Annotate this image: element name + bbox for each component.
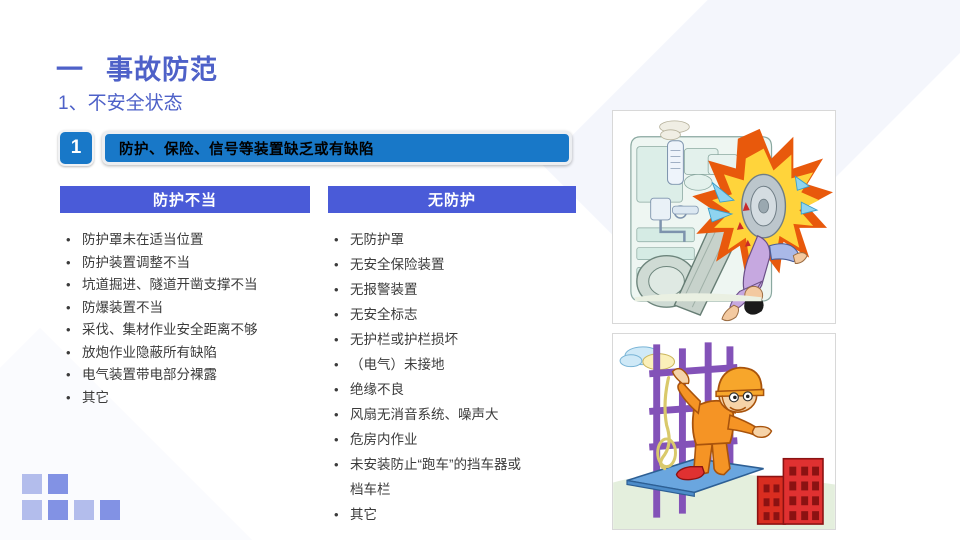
list-item: •无防护罩 — [334, 227, 576, 252]
list-item: •其它 — [66, 387, 310, 410]
column-improper-protection: 防护不当 •防护罩未在适当位置 •防护装置调整不当 •坑道掘进、隧道开凿支撑不当… — [60, 186, 310, 527]
column-header: 无防护 — [328, 186, 576, 213]
list-item: •其它 — [334, 502, 576, 527]
list-item-label: 其它 — [82, 387, 310, 410]
bullet-icon: • — [66, 252, 82, 275]
section-banner-label: 防护、保险、信号等装置缺乏或有缺陷 — [102, 131, 572, 165]
list-item-label: 电气装置带电部分裸露 — [82, 364, 310, 387]
list-item: •无报警装置 — [334, 277, 576, 302]
list-item-label: 无报警装置 — [350, 277, 576, 302]
list-item-label: 采伐、集材作业安全距离不够 — [82, 319, 310, 342]
page-subtitle: 1、不安全状态 — [58, 88, 183, 115]
bullet-icon: • — [66, 319, 82, 342]
list-item: •绝缘不良 — [334, 377, 576, 402]
section-number-badge: 1 — [58, 130, 94, 166]
list-item: •风扇无消音系统、噪声大 — [334, 402, 576, 427]
column-header: 防护不当 — [60, 186, 310, 213]
list-item-label: 防护装置调整不当 — [82, 252, 310, 275]
list-item-label: 其它 — [350, 502, 576, 527]
bullet-icon: • — [66, 342, 82, 365]
list-item: •危房内作业 — [334, 427, 576, 452]
column-item-list: •防护罩未在适当位置 •防护装置调整不当 •坑道掘进、隧道开凿支撑不当 •防爆装… — [60, 213, 310, 409]
bullet-icon: • — [66, 364, 82, 387]
list-item: •防护罩未在适当位置 — [66, 229, 310, 252]
section-banner: 1 防护、保险、信号等装置缺乏或有缺陷 — [58, 130, 572, 166]
bullet-icon: • — [334, 327, 350, 352]
list-item-label: 无防护罩 — [350, 227, 576, 252]
bullet-icon: • — [334, 352, 350, 377]
list-item-label: 坑道掘进、隧道开凿支撑不当 — [82, 274, 310, 297]
list-item-label: 无安全标志 — [350, 302, 576, 327]
slide-canvas: 一事故防范 1、不安全状态 1 防护、保险、信号等装置缺乏或有缺陷 防护不当 •… — [0, 0, 960, 540]
list-item-label: 绝缘不良 — [350, 377, 576, 402]
bullet-icon: • — [334, 252, 350, 277]
list-item: • 未安装防止“跑车”的挡车器或 档车栏 — [334, 452, 576, 502]
list-item-label: 无护栏或护栏损坏 — [350, 327, 576, 352]
scaffold-hazard-illustration — [612, 333, 836, 530]
bullet-icon: • — [334, 227, 350, 252]
list-item-label: （电气）未接地 — [350, 352, 576, 377]
list-item: •防护装置调整不当 — [66, 252, 310, 275]
list-item: •无安全标志 — [334, 302, 576, 327]
page-title-number: 一 — [56, 55, 84, 85]
list-item-label: 无安全保险装置 — [350, 252, 576, 277]
bullet-icon: • — [66, 387, 82, 410]
bullet-icon: • — [334, 302, 350, 327]
bullet-icon: • — [66, 229, 82, 252]
bullet-icon: • — [334, 277, 350, 302]
list-item-label: 风扇无消音系统、噪声大 — [350, 402, 576, 427]
bullet-icon: • — [66, 274, 82, 297]
machine-accident-illustration — [612, 110, 836, 324]
list-item-label: 防护罩未在适当位置 — [82, 229, 310, 252]
list-item: •坑道掘进、隧道开凿支撑不当 — [66, 274, 310, 297]
list-item: •无护栏或护栏损坏 — [334, 327, 576, 352]
bullet-icon: • — [66, 297, 82, 320]
list-item: •防爆装置不当 — [66, 297, 310, 320]
page-title-text: 事故防范 — [106, 55, 218, 85]
list-item: •采伐、集材作业安全距离不够 — [66, 319, 310, 342]
bullet-icon: • — [334, 427, 350, 452]
list-item: •（电气）未接地 — [334, 352, 576, 377]
list-item-label: 防爆装置不当 — [82, 297, 310, 320]
column-no-protection: 无防护 •无防护罩 •无安全保险装置 •无报警装置 •无安全标志 •无护栏或护栏… — [328, 186, 576, 527]
list-item-label: 未安装防止“跑车”的挡车器或 档车栏 — [350, 452, 576, 502]
list-item: •无安全保险装置 — [334, 252, 576, 277]
list-item: •电气装置带电部分裸露 — [66, 364, 310, 387]
list-item: •放炮作业隐蔽所有缺陷 — [66, 342, 310, 365]
list-item-label: 放炮作业隐蔽所有缺陷 — [82, 342, 310, 365]
decorative-square — [22, 474, 42, 494]
bullet-icon: • — [334, 502, 350, 527]
bullet-icon: • — [334, 402, 350, 427]
list-item-label: 危房内作业 — [350, 427, 576, 452]
bullet-icon: • — [334, 377, 350, 402]
decorative-square — [22, 500, 42, 520]
page-title: 一事故防范 — [56, 48, 218, 87]
content-columns: 防护不当 •防护罩未在适当位置 •防护装置调整不当 •坑道掘进、隧道开凿支撑不当… — [60, 186, 576, 527]
column-item-list: •无防护罩 •无安全保险装置 •无报警装置 •无安全标志 •无护栏或护栏损坏 •… — [328, 213, 576, 527]
bullet-icon: • — [334, 452, 350, 502]
